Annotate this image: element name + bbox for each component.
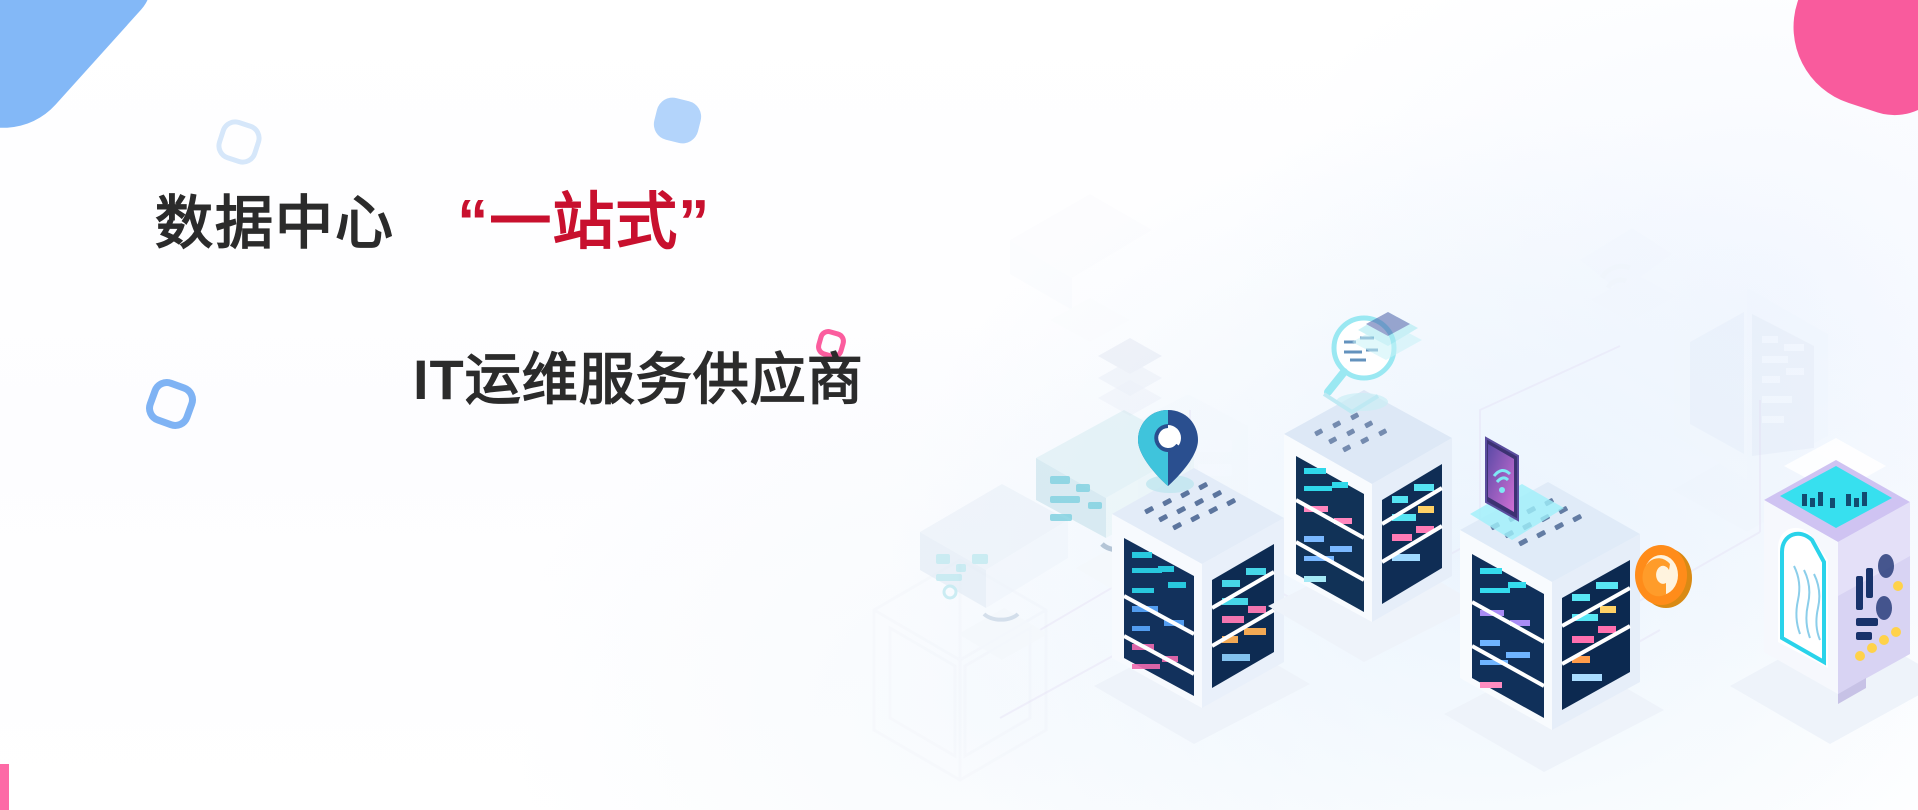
server-tower-rounded [1706, 436, 1918, 776]
blob-top-left-shape [0, 0, 167, 157]
square-filled-blue [650, 94, 704, 147]
tablet-wifi-icon [1452, 428, 1592, 578]
headline-block: 数据中心 “一站式” IT运维服务供应商 [155, 190, 1135, 410]
headline-line-1-highlight: “一站式” [457, 188, 710, 257]
ring-small-light-blue [213, 116, 266, 169]
coin-swirl-icon [1628, 538, 1698, 612]
bar-bottom-left-pink [0, 764, 9, 810]
headline-line-1-prefix: 数据中心 [155, 191, 395, 256]
hero-banner: 数据中心 “一站式” IT运维服务供应商 [0, 0, 1918, 810]
headline-line-1: 数据中心 “一站式” [155, 190, 1135, 255]
headline-line-2: IT运维服务供应商 [413, 351, 1135, 410]
hex-stack-icon [1342, 298, 1432, 378]
isometric-data-center-illustration [860, 40, 1918, 810]
